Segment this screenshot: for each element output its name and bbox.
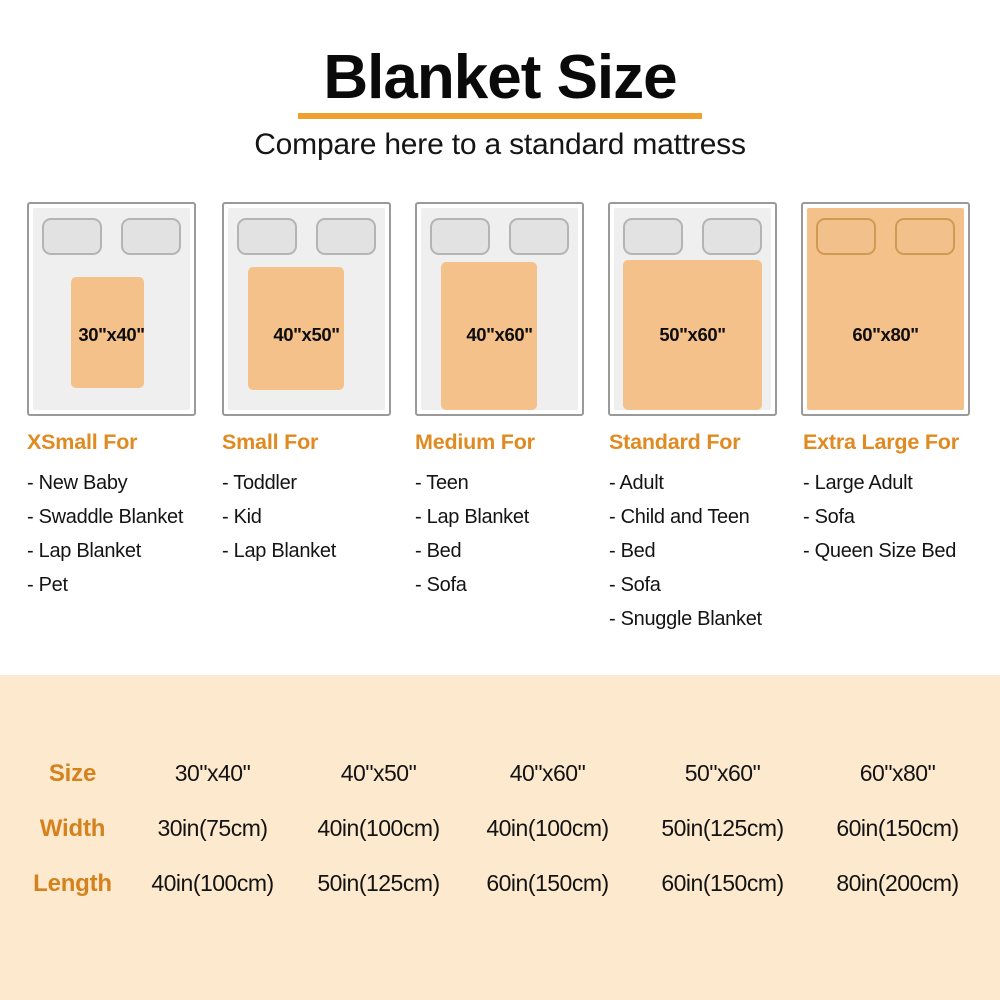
pillow-icon [42,218,102,255]
pillow-icon [430,218,490,255]
category-medium: Medium For - Teen - Lap Blanket - Bed - … [415,430,535,602]
table-cell: 50in(125cm) [635,815,810,842]
page-subtitle: Compare here to a standard mattress [0,128,1000,162]
pillow-icon [623,218,683,255]
page-header: Blanket Size Compare here to a standard … [0,0,1000,162]
category-list-item: - New Baby [27,466,183,500]
pillow-icon [509,218,569,255]
size-table-panel: Size 30"x40" 40"x50" 40"x60" 50"x60" 60"… [0,675,1000,1000]
category-list-item: - Sofa [609,568,762,602]
table-cell: 50"x60" [635,760,810,787]
mattress-outline: 60"x80" [801,202,970,416]
bed-diagram-small: 40"x50" [222,202,391,416]
category-small: Small For - Toddler - Kid - Lap Blanket [222,430,336,568]
bed-diagram-extra-large: 60"x80" [801,202,970,416]
category-list-item: - Bed [415,534,535,568]
category-list-item: - Queen Size Bed [803,534,959,568]
table-cell: 60in(150cm) [635,870,810,897]
pillow-icon [895,218,955,255]
category-list-item: - Kid [222,500,336,534]
category-extra-large: Extra Large For - Large Adult - Sofa - Q… [803,430,959,568]
table-row: Length 40in(100cm) 50in(125cm) 60in(150c… [0,870,1000,925]
pillow-icon [816,218,876,255]
table-cell: 40in(100cm) [291,815,466,842]
category-title: Standard For [609,430,762,455]
table-cell: 40"x50" [291,760,466,787]
pillow-icon [316,218,376,255]
category-list-item: - Lap Blanket [415,500,535,534]
table-cell: 60in(150cm) [810,815,985,842]
table-row-label: Width [0,815,145,843]
page-title: Blanket Size [323,46,676,109]
pillow-icon [237,218,297,255]
category-title: Extra Large For [803,430,959,455]
category-standard: Standard For - Adult - Child and Teen - … [609,430,762,636]
category-list-item: - Lap Blanket [222,534,336,568]
mattress-outline: 30"x40" [27,202,196,416]
table-cell: 60"x80" [810,760,985,787]
bed-size-label: 30"x40" [29,324,194,346]
table-row-label: Length [0,870,145,898]
table-cell: 30"x40" [125,760,300,787]
category-list-item: - Toddler [222,466,336,500]
category-title: XSmall For [27,430,183,455]
bed-size-label: 40"x60" [417,324,582,346]
category-list-item: - Teen [415,466,535,500]
category-xsmall: XSmall For - New Baby - Swaddle Blanket … [27,430,183,602]
category-list-item: - Lap Blanket [27,534,183,568]
table-row: Size 30"x40" 40"x50" 40"x60" 50"x60" 60"… [0,760,1000,815]
category-title: Medium For [415,430,535,455]
table-cell: 40in(100cm) [125,870,300,897]
bed-diagram-xsmall: 30"x40" [27,202,196,416]
table-cell: 60in(150cm) [460,870,635,897]
title-underline [298,113,702,119]
category-columns: XSmall For - New Baby - Swaddle Blanket … [0,430,1000,660]
bed-diagram-medium: 40"x60" [415,202,584,416]
pillow-icon [702,218,762,255]
bed-size-label: 50"x60" [610,324,775,346]
category-title: Small For [222,430,336,455]
table-cell: 40in(100cm) [460,815,635,842]
table-row: Width 30in(75cm) 40in(100cm) 40in(100cm)… [0,815,1000,870]
category-list-item: - Snuggle Blanket [609,602,762,636]
mattress-outline: 40"x50" [222,202,391,416]
category-list-item: - Large Adult [803,466,959,500]
bed-size-label: 40"x50" [224,324,389,346]
category-list-item: - Swaddle Blanket [27,500,183,534]
table-cell: 40"x60" [460,760,635,787]
table-row-label: Size [0,760,145,788]
table-cell: 30in(75cm) [125,815,300,842]
table-cell: 50in(125cm) [291,870,466,897]
category-list-item: - Sofa [415,568,535,602]
category-list-item: - Child and Teen [609,500,762,534]
mattress-outline: 40"x60" [415,202,584,416]
pillow-icon [121,218,181,255]
category-list-item: - Adult [609,466,762,500]
category-list-item: - Bed [609,534,762,568]
bed-size-label: 60"x80" [803,324,968,346]
category-list-item: - Pet [27,568,183,602]
size-table: Size 30"x40" 40"x50" 40"x60" 50"x60" 60"… [0,760,1000,925]
category-list-item: - Sofa [803,500,959,534]
bed-diagram-row: 30"x40" 40"x50" 40"x60" 50"x60" [0,202,1000,416]
bed-diagram-standard: 50"x60" [608,202,777,416]
mattress-outline: 50"x60" [608,202,777,416]
table-cell: 80in(200cm) [810,870,985,897]
